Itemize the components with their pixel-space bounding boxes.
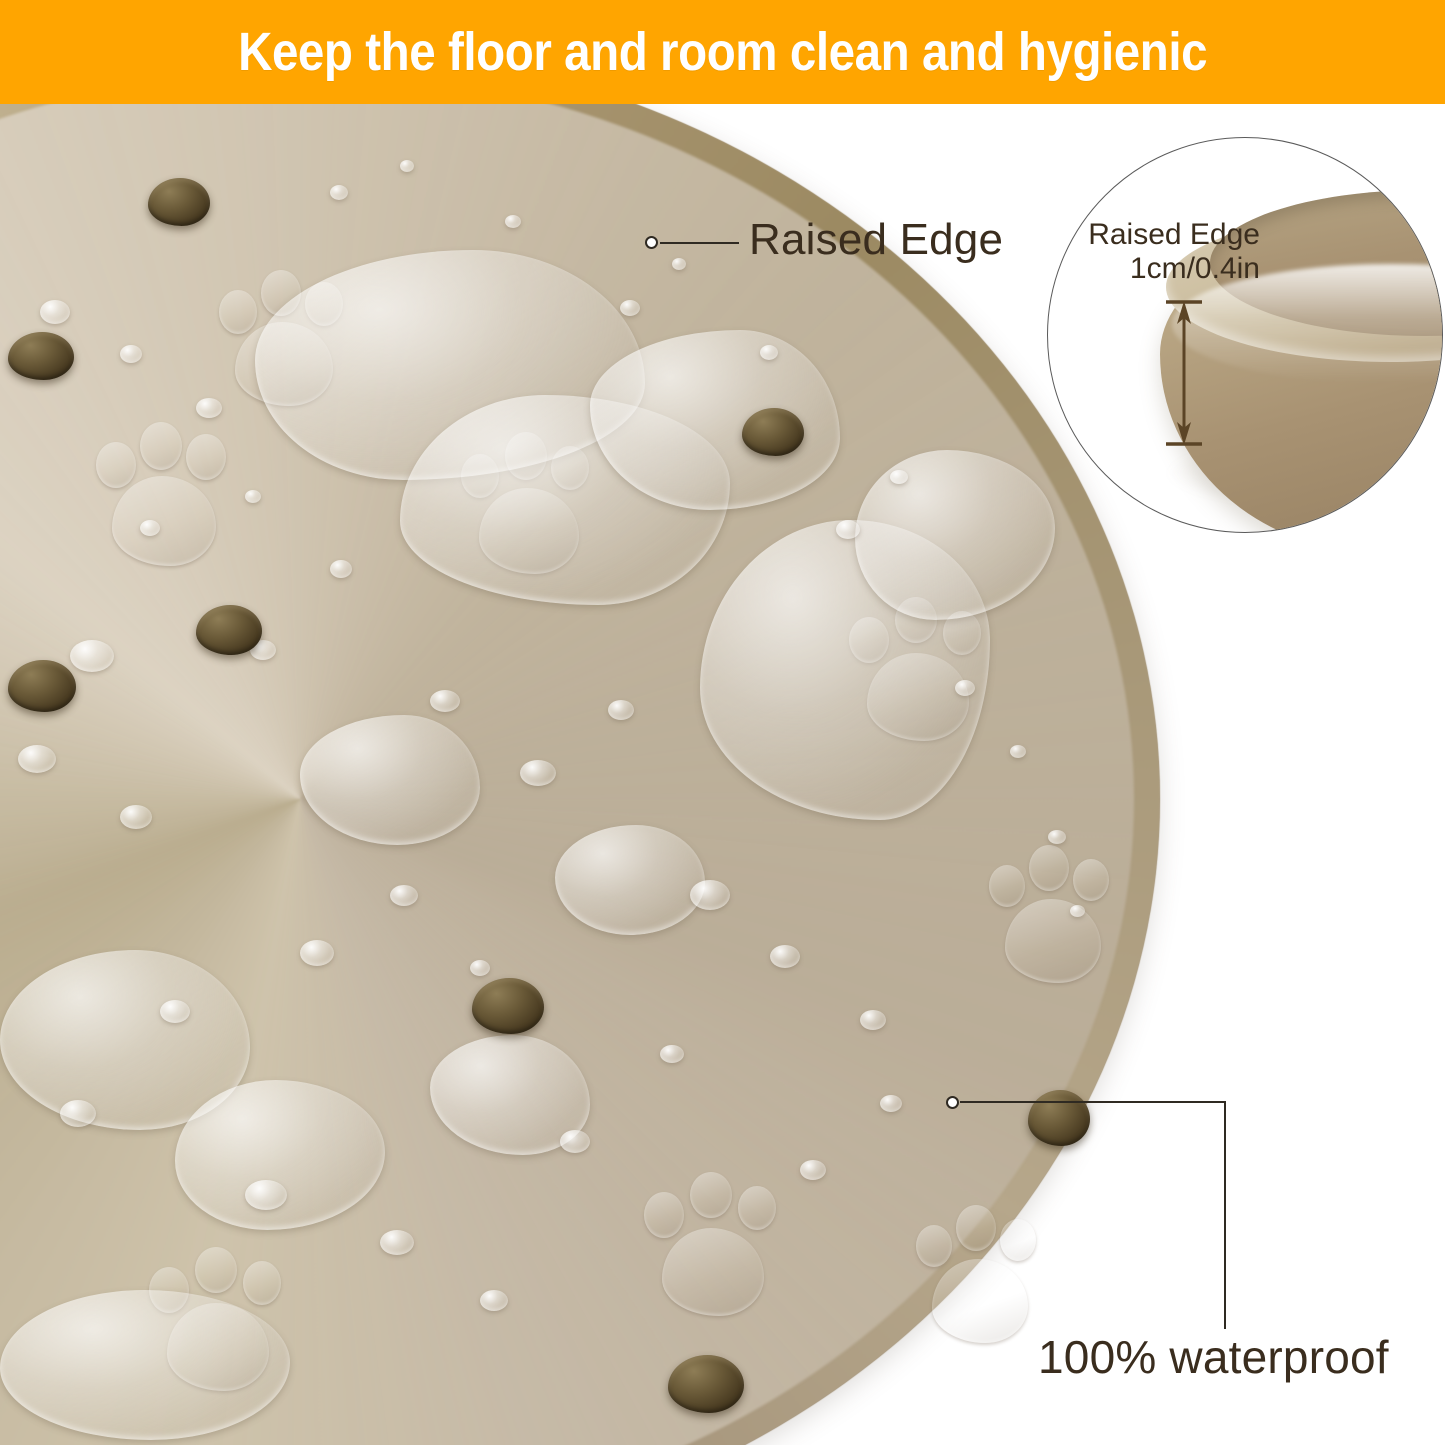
inset-caption-line-2: 1cm/0.4in [1070, 252, 1260, 286]
inset-closeup-photo [1048, 138, 1442, 532]
banner-headline: Keep the floor and room clean and hygien… [238, 21, 1207, 83]
leader-dot-icon [645, 236, 658, 249]
raised-edge-callout-label: Raised Edge [749, 215, 1003, 265]
raised-edge-detail-inset: Raised Edge 1cm/0.4in [1047, 137, 1443, 533]
waterproof-leader-line-vertical [1224, 1101, 1226, 1329]
dimension-arrow-icon [1160, 298, 1206, 448]
waterproof-callout-label: 100% waterproof [1038, 1330, 1389, 1384]
header-banner: Keep the floor and room clean and hygien… [0, 0, 1445, 104]
inset-caption: Raised Edge 1cm/0.4in [1070, 218, 1260, 285]
pet-feeding-mat [0, 104, 1160, 1445]
product-feature-image: Keep the floor and room clean and hygien… [0, 0, 1445, 1445]
raised-edge-leader-line [660, 242, 739, 244]
waterproof-leader-line-horizontal [960, 1101, 1226, 1103]
inset-caption-line-1: Raised Edge [1070, 218, 1260, 252]
leader-dot-icon [946, 1096, 959, 1109]
